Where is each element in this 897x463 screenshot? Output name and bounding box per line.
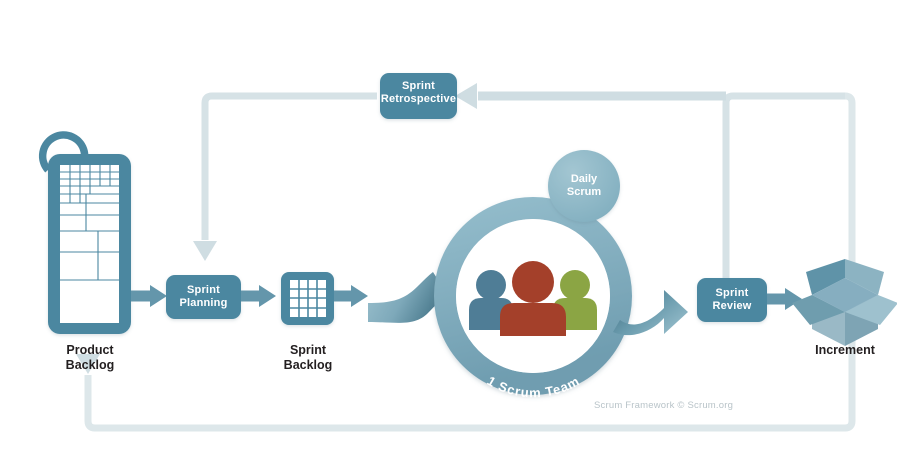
sprint-backlog-node[interactable]	[281, 272, 368, 325]
daily-scrum-label: Daily Scrum	[549, 173, 619, 199]
scrum-framework-diagram: 1 Scrum Team	[0, 0, 897, 463]
diagram-canvas: 1 Scrum Team	[0, 0, 897, 463]
sprint-backlog-caption: Sprint Backlog	[258, 343, 358, 373]
increment-node[interactable]	[792, 259, 897, 346]
sprint-planning-node[interactable]	[166, 275, 276, 319]
arrow-planning-to-sprint-backlog	[241, 285, 276, 307]
sprint-ring[interactable]: 1 Scrum Team	[445, 208, 621, 400]
feedback-arrowhead-down	[193, 241, 217, 261]
arrow-backlog-to-planning	[131, 285, 167, 307]
scrum-team-people-icon	[469, 261, 597, 336]
feedback-loop-retrospective-to-planning	[193, 96, 377, 261]
product-backlog-node[interactable]	[43, 135, 167, 334]
increment-caption: Increment	[795, 343, 895, 358]
sprint-review-node[interactable]	[697, 278, 802, 322]
sprint-retrospective-node[interactable]	[380, 73, 457, 119]
product-backlog-caption: Product Backlog	[40, 343, 140, 373]
feedback-arrowhead-left	[455, 83, 477, 109]
credit-text: Scrum Framework © Scrum.org	[594, 400, 733, 411]
arrow-sprint-backlog-to-sprint	[334, 285, 368, 307]
